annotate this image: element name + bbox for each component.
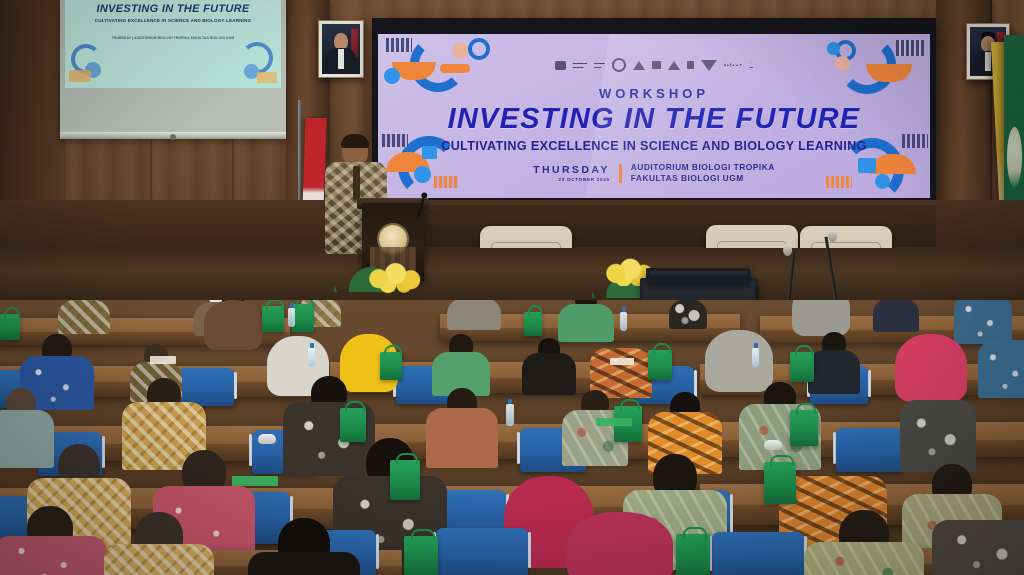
slide-decoration-grid — [386, 38, 412, 52]
slide-text-block: WORKSHOP INVESTING IN THE FUTURE CULTIVA… — [378, 86, 930, 153]
slide-decoration-dot — [835, 56, 850, 71]
partner-logo-icon: ⟋▬ — [750, 61, 754, 70]
main-led-screen: ▬▬▬▬▬▬▬ ▬▬▬▬▬ ▮▲╋▲▲▼ ⟋▬ WORKSHOP INVESTI… — [372, 18, 936, 210]
audience-member — [976, 336, 1024, 400]
water-bottle — [288, 308, 295, 327]
slide-decoration-dot — [875, 174, 890, 189]
torso — [873, 300, 919, 332]
slide-decoration-ring — [468, 38, 490, 60]
torso — [804, 542, 924, 575]
left-slide-subtitle: CULTIVATING EXCELLENCE IN SCIENCE AND BI… — [65, 18, 281, 23]
water-bottle — [308, 348, 315, 367]
partner-logo-icon: ▬▬▬▬▬▬▬ — [573, 61, 587, 70]
computer-mouse — [258, 434, 276, 444]
auditorium-photograph: WORKSHOP INVESTING IN THE FUTURE CULTIVA… — [0, 0, 1024, 575]
torso — [558, 304, 614, 342]
audience-member — [520, 340, 578, 394]
portrait-shirt — [985, 52, 991, 72]
slide-venue-line-2: FAKULTAS BIOLOGI UGM — [631, 173, 775, 184]
partner-logo-row: ▬▬▬▬▬▬▬ ▬▬▬▬▬ ▮▲╋▲▲▼ ⟋▬ — [378, 58, 930, 72]
stage-monitor-top — [646, 268, 750, 284]
slide-date: 23 OCTOBER 2025 — [533, 177, 610, 182]
left-slide-eyebrow: WORKSHOP — [65, 0, 281, 2]
slide-decoration-arc — [838, 36, 896, 94]
water-bottle — [506, 404, 514, 426]
audience-member — [872, 300, 920, 330]
slide-decoration-grid — [826, 176, 852, 188]
slide-title: INVESTING IN THE FUTURE — [378, 103, 930, 136]
green-seminar-bag — [390, 460, 420, 500]
notebook — [150, 356, 176, 364]
green-seminar-bag — [340, 408, 366, 442]
audience-member — [898, 396, 978, 474]
notebook — [596, 418, 632, 426]
notebook — [232, 476, 278, 486]
audience-member — [930, 518, 1024, 575]
green-seminar-bag — [262, 306, 284, 332]
hijab — [204, 300, 262, 350]
partner-logo-icon — [633, 61, 645, 70]
green-seminar-bag — [790, 352, 814, 382]
partner-logo-icon: ▮▲╋▲▲▼ — [724, 63, 743, 67]
hijab — [567, 512, 673, 575]
slide-day: THURSDAY — [533, 164, 610, 176]
water-bottle — [752, 348, 759, 367]
slide-decoration-square — [858, 158, 876, 173]
torso — [0, 536, 107, 575]
left-slide-decoration — [257, 72, 277, 83]
notebook — [610, 358, 634, 365]
torso — [447, 300, 501, 330]
slide-date-block: THURSDAY 23 OCTOBER 2025 — [533, 164, 610, 182]
green-seminar-bag — [648, 350, 672, 380]
partner-logo-icon: ▬▬▬▬▬ — [594, 61, 605, 70]
green-seminar-bag — [524, 312, 542, 336]
audience-member — [444, 300, 504, 330]
torso — [248, 552, 360, 575]
portrait-shirt — [338, 49, 344, 69]
torso — [669, 300, 707, 329]
microphone-head — [828, 230, 837, 242]
slide-divider — [619, 164, 622, 183]
projection-screen-roller-bar — [60, 132, 286, 139]
hijab — [705, 330, 773, 392]
torso — [104, 544, 214, 575]
left-slide-title: INVESTING IN THE FUTURE — [65, 3, 281, 15]
presentation-slide: ▬▬▬▬▬▬▬ ▬▬▬▬▬ ▮▲╋▲▲▼ ⟋▬ WORKSHOP INVESTI… — [378, 34, 930, 198]
audience-member — [84, 300, 110, 302]
green-seminar-bag — [676, 534, 710, 575]
audience-member — [244, 530, 364, 575]
partner-logo-icon — [687, 61, 694, 69]
partner-logo-icon — [668, 61, 680, 70]
left-slide-footer: THURSDAY | AUDITORIUM BIOLOGI TROPIKA FA… — [65, 36, 281, 40]
audience-member — [430, 338, 492, 394]
torso — [522, 353, 576, 395]
computer-mouse — [764, 440, 782, 450]
torso — [58, 300, 110, 334]
audience-member — [800, 522, 928, 575]
slide-eyebrow: WORKSHOP — [378, 86, 930, 101]
left-slide-decoration — [69, 70, 91, 82]
partner-logo-icon — [701, 60, 717, 71]
partner-logo-icon — [612, 58, 626, 72]
speaker-hair — [341, 134, 369, 148]
slide-decoration-dot — [827, 42, 840, 55]
audience-member — [100, 526, 218, 575]
slide-decoration-arc — [866, 64, 912, 82]
audience-member — [0, 514, 110, 575]
slide-footer: THURSDAY 23 OCTOBER 2025 AUDITORIUM BIOL… — [378, 162, 930, 185]
torso — [932, 520, 1024, 575]
audience-chair — [436, 528, 528, 575]
slide-subtitle: CULTIVATING EXCELLENCE IN SCIENCE AND BI… — [378, 139, 930, 153]
torso — [978, 340, 1024, 398]
green-seminar-bag — [0, 314, 20, 340]
water-bottle — [620, 312, 627, 331]
portrait-left — [318, 20, 364, 78]
slide-decoration-arc — [840, 138, 904, 198]
audience-chair — [836, 428, 902, 472]
audience-member — [560, 516, 680, 575]
green-seminar-bag — [790, 410, 818, 446]
slide-decoration-ring — [835, 40, 856, 61]
slide-venue-block: AUDITORIUM BIOLOGI TROPIKA FAKULTAS BIOL… — [631, 162, 775, 185]
green-seminar-bag — [764, 462, 796, 504]
slide-decoration-grid — [896, 40, 924, 56]
speaker-placket — [353, 166, 360, 200]
audience-chair — [712, 532, 804, 575]
torso — [900, 400, 976, 472]
audience-member — [668, 300, 708, 328]
slide-venue-line-1: AUDITORIUM BIOLOGI TROPIKA — [631, 162, 775, 173]
audience-member — [806, 336, 862, 392]
green-seminar-bag — [404, 536, 438, 575]
partner-logo-icon — [555, 61, 566, 70]
green-seminar-bag — [292, 304, 314, 332]
audience-member — [56, 300, 112, 330]
microphone-head — [783, 244, 792, 256]
green-seminar-bag — [380, 352, 402, 380]
partner-logo-icon — [652, 61, 661, 69]
slide-decoration-dot — [452, 42, 469, 59]
audience-member — [200, 300, 266, 348]
hijab — [895, 334, 967, 402]
portrait-image — [322, 24, 360, 74]
left-projection-screen: WORKSHOP INVESTING IN THE FUTURE CULTIVA… — [60, 0, 286, 139]
audience-member — [788, 300, 854, 340]
hijab — [792, 300, 850, 336]
left-screen-slide: WORKSHOP INVESTING IN THE FUTURE CULTIVA… — [65, 0, 281, 88]
audience-member — [556, 300, 616, 342]
stage-flower-arrangement — [356, 260, 432, 294]
audience-seating-area — [0, 300, 1024, 575]
